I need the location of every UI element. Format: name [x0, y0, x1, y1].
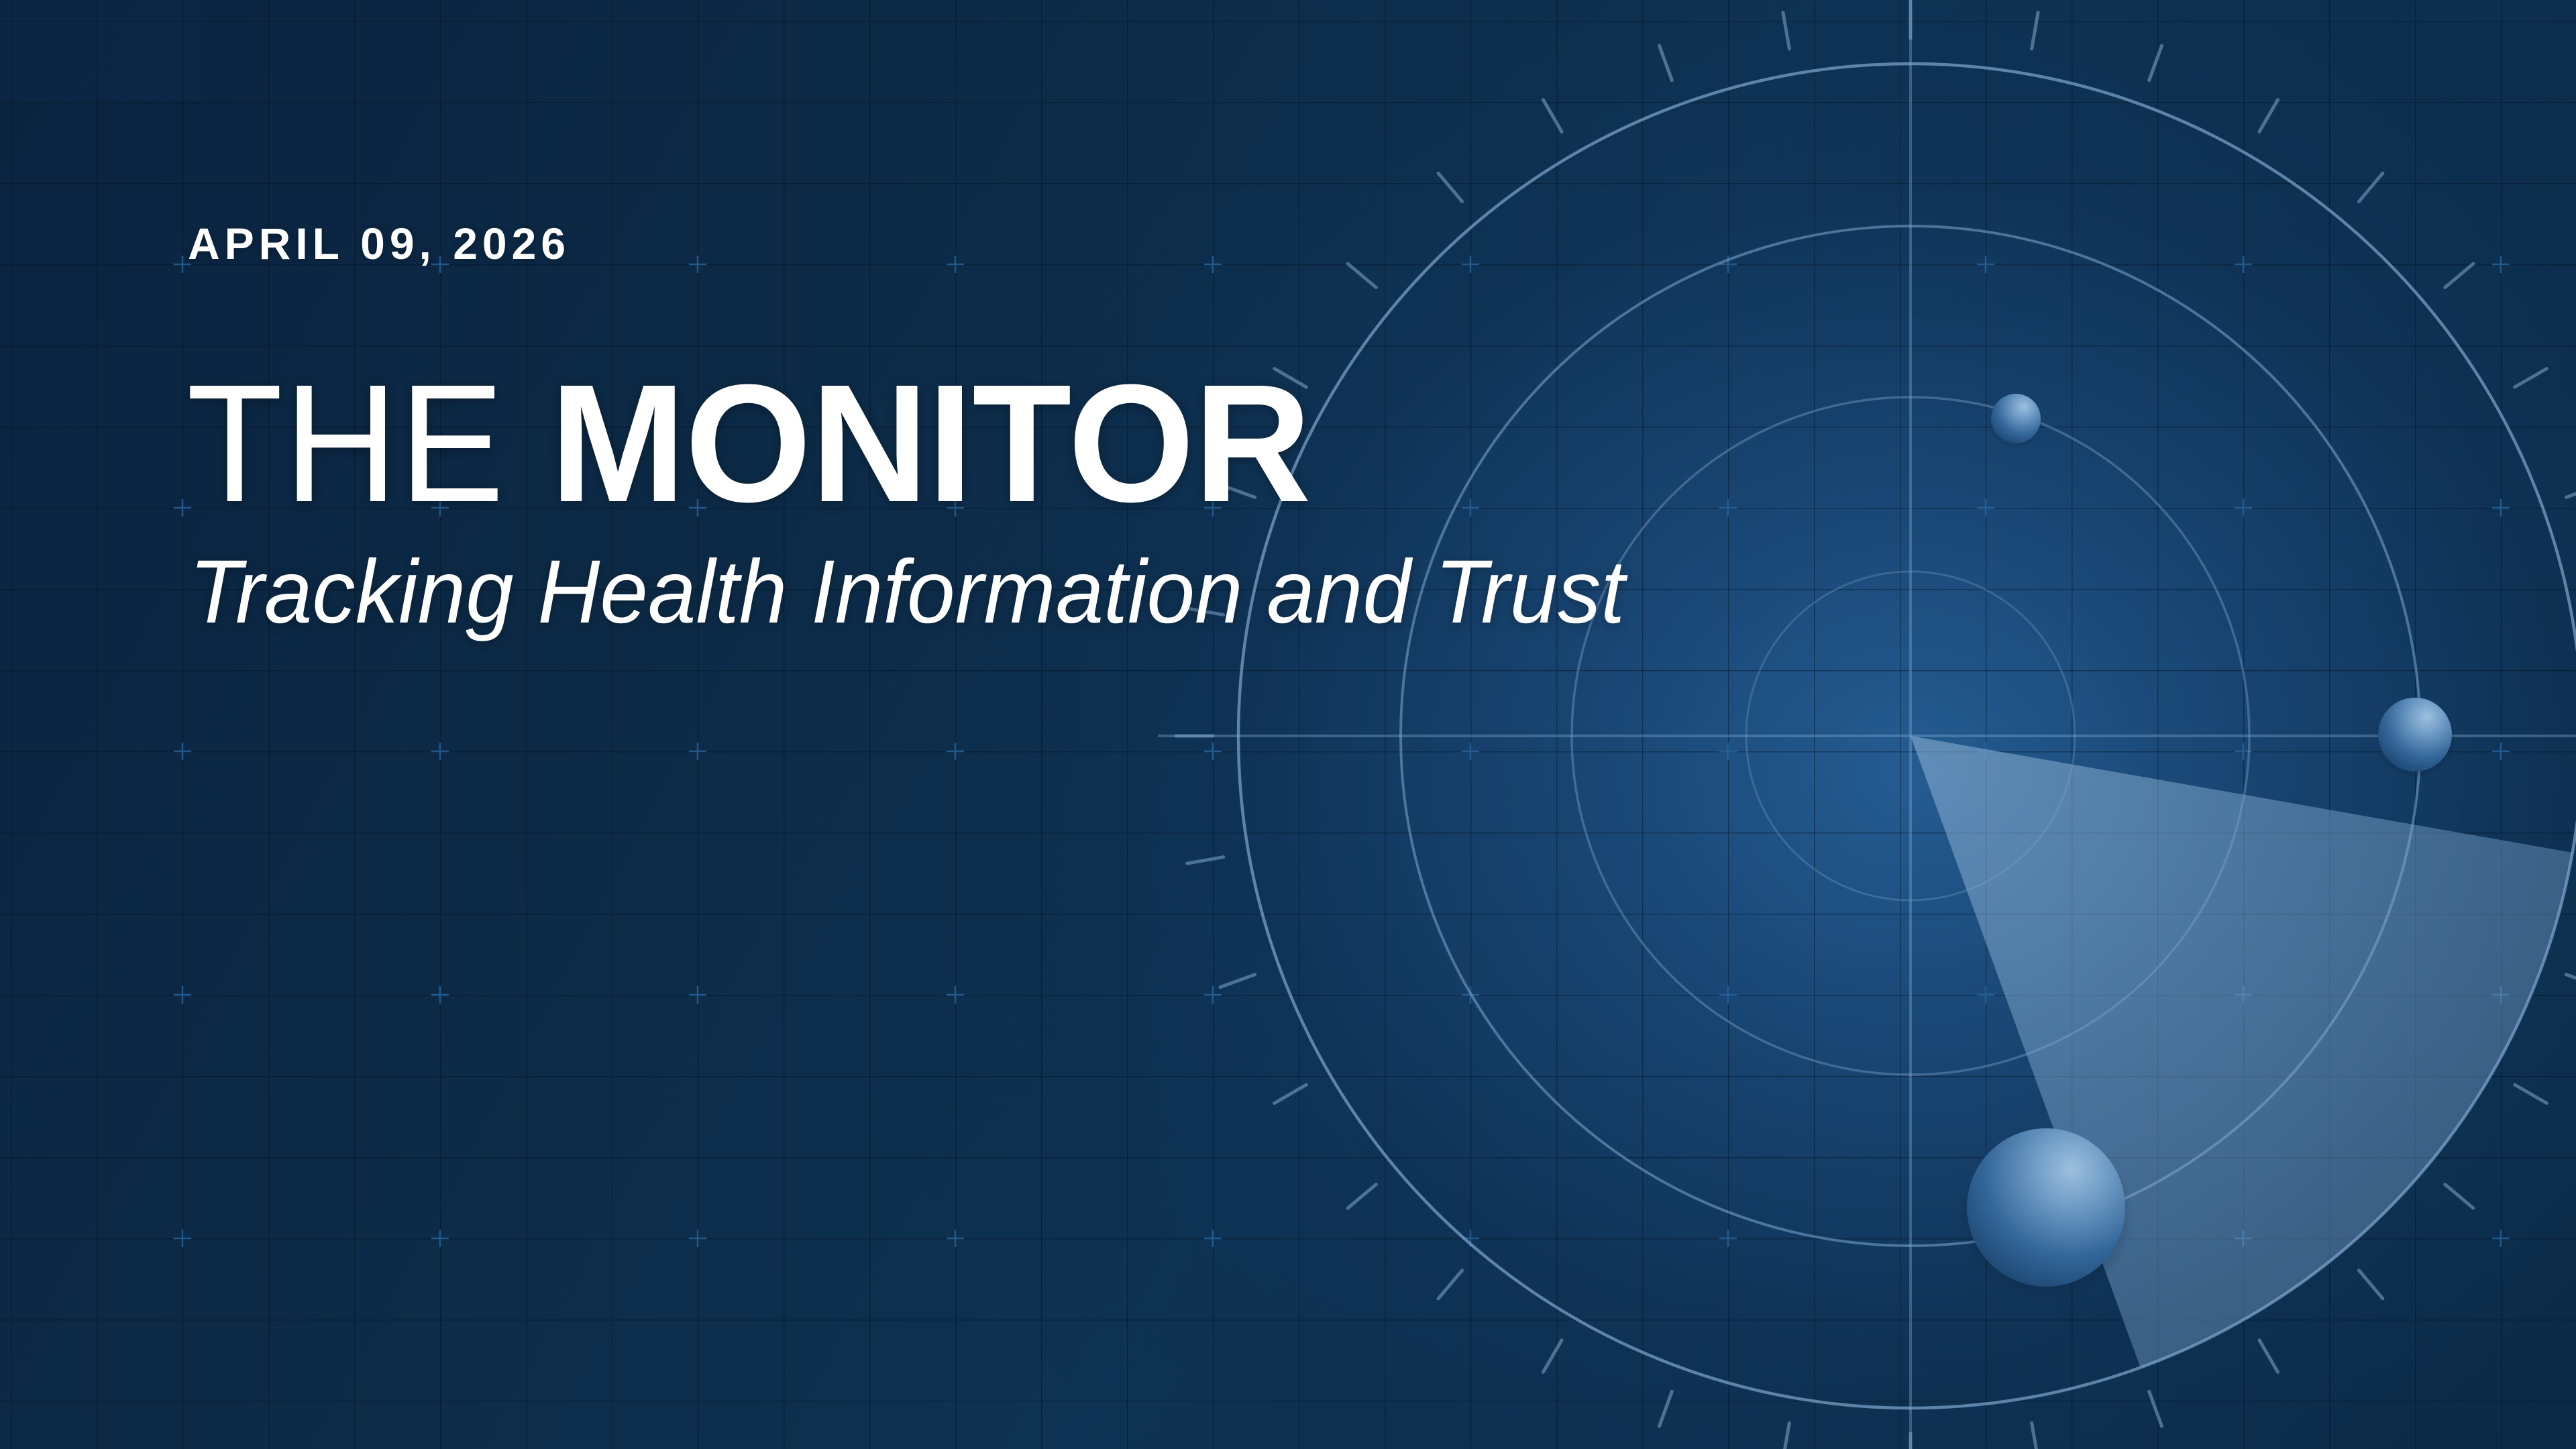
radar-graphic: [0, 0, 2576, 1449]
issue-date: APRIL 09, 2026: [188, 221, 1796, 266]
radar-blips: [1957, 394, 2457, 1303]
radar-sweep: [1911, 736, 2573, 1368]
blueprint-grid: [0, 0, 2576, 1449]
monitor-banner: APRIL 09, 2026 THEMONITOR Tracking Healt…: [0, 0, 2576, 1449]
title-word-monitor: MONITOR: [550, 366, 1311, 521]
grid-crosshair-markers: [0, 0, 2576, 1449]
page-title: THEMONITOR: [186, 366, 1796, 521]
film-grain-texture: [0, 0, 201, 101]
banner-text-block: APRIL 09, 2026 THEMONITOR Tracking Healt…: [186, 221, 1796, 637]
page-subtitle: Tracking Health Information and Trust: [189, 547, 1732, 637]
title-word-the: THE: [186, 366, 506, 521]
radar-tick-marks: [1176, 1, 2576, 1449]
radar-axes: [1158, 0, 2576, 1449]
